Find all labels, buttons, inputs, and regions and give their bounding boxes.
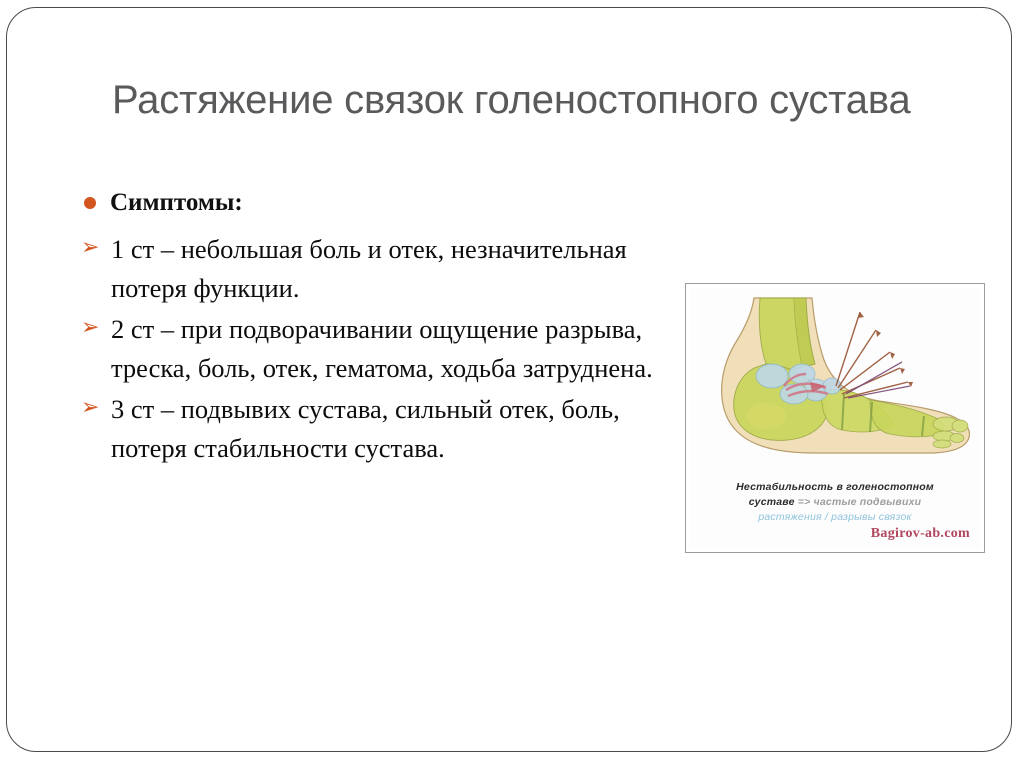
figure-inner-frame: Нестабильность в голеностопном суставе =… (690, 288, 980, 548)
list-item-label: 1 ст – небольшая боль и отек, незначител… (111, 234, 627, 303)
figure-caption: Нестабильность в голеностопном суставе =… (696, 480, 974, 525)
watermark-text: Bagirov-ab.com (871, 526, 970, 542)
arrowhead-bullet-icon: ➢ (81, 397, 99, 419)
arrowhead-bullet-icon: ➢ (81, 317, 99, 339)
list-item-label: 2 ст – при подворачивании ощущение разры… (111, 314, 653, 383)
caption-line-3: растяжения / разрывы связок (696, 510, 974, 525)
list-item-degree-1: ➢ 1 ст – небольшая боль и отек, незначит… (80, 230, 660, 307)
slide-canvas: Растяжение связок голеностопного сустава… (0, 0, 1024, 768)
list-item-degree-2: ➢ 2 ст – при подворачивании ощущение раз… (80, 310, 660, 387)
disc-bullet-icon (84, 197, 96, 209)
caption-line-2-bold: суставе (749, 496, 795, 508)
page-title: Растяжение связок голеностопного сустава (112, 73, 952, 128)
arrowhead-bullet-icon: ➢ (81, 237, 99, 259)
caption-line-2: суставе => частые подвывихи (696, 495, 974, 510)
caption-line-1: Нестабильность в голеностопном (696, 480, 974, 495)
list-item-degree-3: ➢ 3 ст – подвывих сустава, сильный отек,… (80, 390, 660, 467)
ankle-anatomy-illustration (694, 290, 978, 480)
caption-line-2-gray: => частые подвывихи (798, 496, 921, 508)
list-item-label: Симптомы: (110, 189, 243, 216)
ankle-anatomy-figure: Нестабильность в голеностопном суставе =… (685, 283, 985, 553)
list-item-label: 3 ст – подвывих сустава, сильный отек, б… (111, 394, 620, 463)
symptoms-list: Симптомы: ➢ 1 ст – небольшая боль и отек… (80, 186, 660, 470)
list-item-symptoms-heading: Симптомы: (80, 186, 660, 220)
